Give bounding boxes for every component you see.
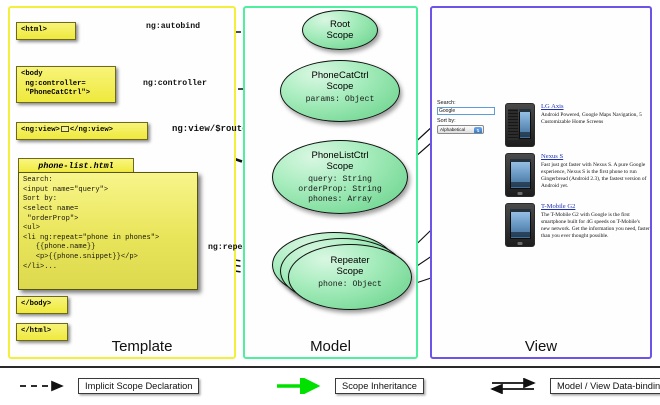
phone-list-callout: phone-list.html Search: <input name="que…	[18, 158, 198, 290]
scope-title-line2: Scope	[303, 31, 377, 42]
sort-select[interactable]: Alphabetical ⇅	[437, 125, 484, 134]
view-column-label: View	[432, 338, 650, 355]
double-arrow-icon	[490, 378, 542, 394]
legend-label: Scope Inheritance	[335, 378, 424, 394]
phone-thumbnail-icon	[505, 103, 535, 147]
legend: Implicit Scope Declaration Scope Inherit…	[0, 366, 660, 405]
ngview-close-tag: </ng:view>	[70, 126, 113, 134]
callout-filename: phone-list.html	[18, 158, 134, 173]
phone-name-link[interactable]: T-Mobile G2	[541, 203, 650, 210]
scope-root-scope: Root Scope	[302, 10, 378, 50]
phone-snippet: The T-Mobile G2 with Google is the first…	[541, 212, 650, 240]
search-label: Search:	[437, 100, 499, 106]
view-search-form: Search: Google Sort by: Alphabetical ⇅	[437, 100, 499, 134]
scope-title-line2: Scope	[273, 162, 407, 173]
list-item[interactable]: T-Mobile G2 The T-Mobile G2 with Google …	[505, 203, 650, 247]
scope-title-line2: Scope	[289, 267, 411, 278]
scope-title-line2: Scope	[281, 82, 399, 93]
label-ng-controller: ng:controller	[143, 79, 207, 88]
chevron-updown-icon: ⇅	[474, 127, 482, 134]
list-item[interactable]: LG Axis Android Powered, Google Maps Nav…	[505, 103, 650, 147]
body-end-tag-box: </body>	[16, 296, 68, 314]
sort-select-value: Alphabetical	[440, 127, 465, 132]
ngview-tag-box: <ng:view></ng:view>	[16, 122, 148, 140]
scope-properties: phone: Object	[289, 280, 411, 290]
view-phone-list: LG Axis Android Powered, Google Maps Nav…	[505, 103, 650, 253]
label-ng-autobind: ng:autobind	[146, 22, 200, 31]
dashed-arrow-icon	[18, 378, 70, 394]
green-arrow-icon	[275, 378, 327, 394]
legend-item-scope-inheritance: Scope Inheritance	[275, 378, 424, 394]
model-column-label: Model	[245, 338, 416, 355]
legend-label: Implicit Scope Declaration	[78, 378, 199, 394]
body-tag-box: <body ng:controller= "PhoneCatCtrl">	[16, 66, 116, 103]
phone-snippet: Fast just got faster with Nexus S. A pur…	[541, 162, 650, 190]
html-end-tag-box: </html>	[16, 323, 68, 341]
phone-name-link[interactable]: Nexus S	[541, 153, 650, 160]
scope-properties: query: String orderProp: String phones: …	[273, 175, 407, 204]
legend-item-model-view-data-binding: Model / View Data-binding	[490, 378, 660, 394]
scope-phonelistctrl-scope: PhoneListCtrl Scope query: String orderP…	[272, 140, 408, 214]
scope-properties: params: Object	[281, 95, 399, 105]
ngview-placeholder-icon	[61, 126, 69, 132]
html-tag-box: <html>	[16, 22, 76, 40]
list-item[interactable]: Nexus S Fast just got faster with Nexus …	[505, 153, 650, 197]
callout-code: Search: <input name="query"> Sort by: <s…	[18, 172, 198, 290]
ngview-open-tag: <ng:view>	[21, 126, 60, 134]
phone-snippet: Android Powered, Google Maps Navigation,…	[541, 112, 650, 126]
diagram-root: Template <html> <body ng:controller= "Ph…	[0, 0, 660, 405]
phone-thumbnail-icon	[505, 203, 535, 247]
search-input[interactable]: Google	[437, 107, 495, 115]
legend-item-implicit-scope-declaration: Implicit Scope Declaration	[18, 378, 199, 394]
scope-repeater-scope: Repeater Scope phone: Object	[288, 244, 412, 310]
legend-label: Model / View Data-binding	[550, 378, 660, 394]
scope-phonecatctrl-scope: PhoneCatCtrl Scope params: Object	[280, 60, 400, 122]
phone-name-link[interactable]: LG Axis	[541, 103, 650, 110]
label-ng-view-route: ng:view/$route	[172, 124, 248, 134]
sort-label: Sort by:	[437, 118, 499, 124]
phone-thumbnail-icon	[505, 153, 535, 197]
